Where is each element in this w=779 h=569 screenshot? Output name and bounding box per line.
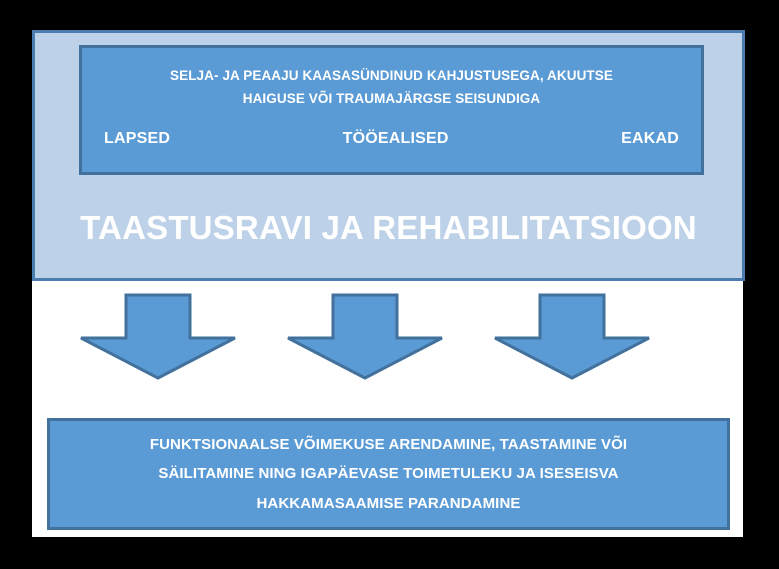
age-group-elderly: EAKAD <box>621 130 679 148</box>
age-group-working-age: TÖÖEALISED <box>343 130 449 148</box>
down-arrow-icon-2 <box>285 293 445 380</box>
population-description-line-1: SELJA- JA PEAAJU KAASASÜNDINUD KAHJUSTUS… <box>82 64 701 87</box>
goal-text-line-1: FUNKTSIONAALSE VÕIMEKUSE ARENDAMINE, TAA… <box>150 430 627 459</box>
down-arrow-icon-3 <box>492 293 652 380</box>
population-description-line-2: HAIGUSE VÕI TRAUMAJÄRGSE SEISUNDIGA <box>82 87 701 110</box>
goal-text-line-2: SÄILITAMINE NING IGAPÄEVASE TOIMETULEKU … <box>150 459 627 488</box>
age-group-row: LAPSED TÖÖEALISED EAKAD <box>104 130 679 148</box>
diagram-canvas: SELJA- JA PEAAJU KAASASÜNDINUD KAHJUSTUS… <box>0 0 779 569</box>
goal-text-line-3: HAKKAMASAAMISE PARANDAMINE <box>150 489 627 518</box>
rehabilitation-goal-box: FUNKTSIONAALSE VÕIMEKUSE ARENDAMINE, TAA… <box>47 418 730 530</box>
target-population-box: SELJA- JA PEAAJU KAASASÜNDINUD KAHJUSTUS… <box>79 45 704 175</box>
panel-heading: TAASTUSRAVI JA REHABILITATSIOON <box>35 209 742 247</box>
age-group-children: LAPSED <box>104 130 170 148</box>
rehabilitation-panel: SELJA- JA PEAAJU KAASASÜNDINUD KAHJUSTUS… <box>32 30 745 281</box>
down-arrow-icon-1 <box>78 293 238 380</box>
goal-text: FUNKTSIONAALSE VÕIMEKUSE ARENDAMINE, TAA… <box>150 430 627 518</box>
population-description: SELJA- JA PEAAJU KAASASÜNDINUD KAHJUSTUS… <box>82 64 701 110</box>
